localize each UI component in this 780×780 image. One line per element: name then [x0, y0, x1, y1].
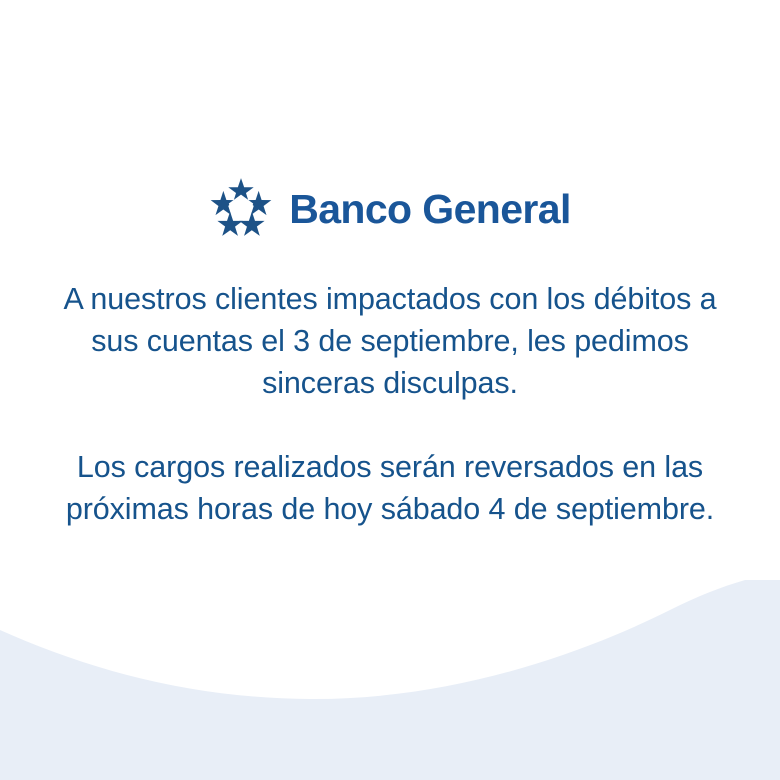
announcement-card: Banco General A nuestros clientes impact… [0, 0, 780, 780]
reversal-paragraph: Los cargos realizados serán reversados e… [50, 446, 730, 530]
apology-paragraph: A nuestros clientes impactados con los d… [50, 278, 730, 404]
brand-wordmark: Banco General [289, 189, 571, 232]
five-star-circle-icon [209, 178, 273, 242]
bottom-wave-decoration [0, 580, 780, 780]
message-block: A nuestros clientes impactados con los d… [50, 278, 730, 530]
wave-shape-icon [0, 580, 780, 780]
brand-logo-lockup: Banco General [0, 178, 780, 242]
